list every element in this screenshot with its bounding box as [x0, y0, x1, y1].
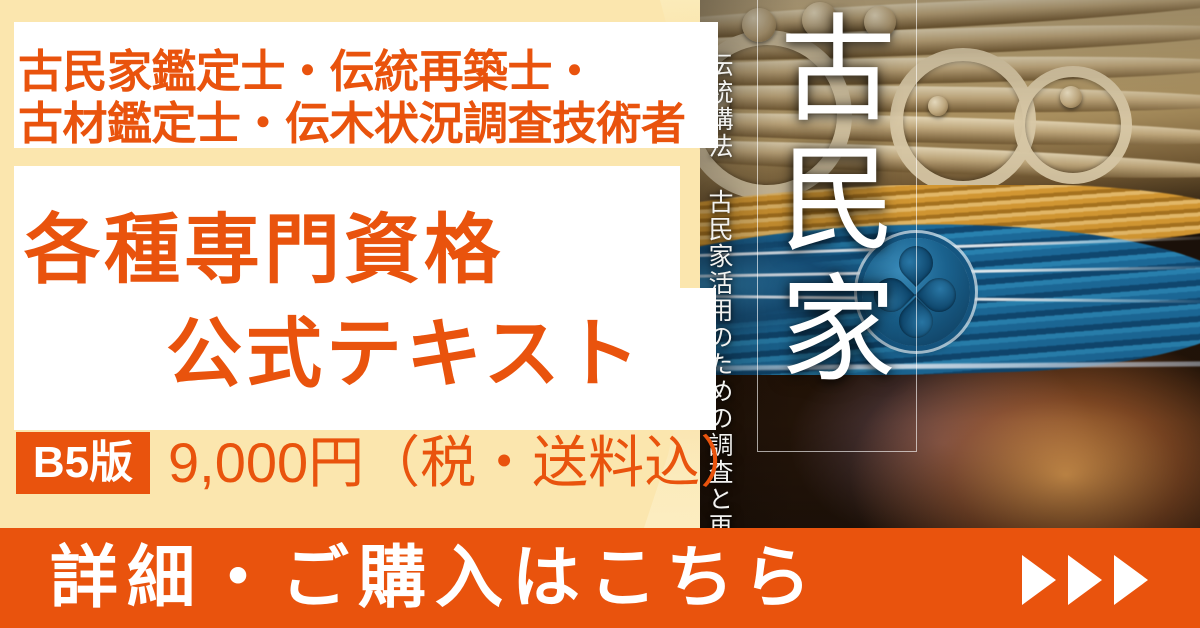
book-title-char-2: 民 [775, 138, 901, 268]
triangle-right-icon [1114, 555, 1148, 605]
triangle-right-icon [1022, 555, 1056, 605]
cta-bar[interactable]: 詳細・ご購入はこちら [0, 528, 1200, 628]
promo-banner: 古 民 家 伝統構法 古民家活用のための調査と再生の 古民家鑑定士・伝統再築士・… [0, 0, 1200, 628]
headline-line-1: 各種専門資格 [24, 188, 504, 298]
price-text: 9,000円（税・送料込） [168, 432, 756, 494]
certification-line-2: 古材鑑定士・伝木状況調査技術者 [18, 87, 686, 152]
headline-line-2: 公式テキスト [166, 292, 644, 402]
book-title: 古 民 家 [775, 8, 901, 398]
format-badge: B5版 [16, 432, 150, 494]
cta-label: 詳細・ご購入はこちら [50, 542, 820, 614]
book-title-char-3: 家 [775, 268, 901, 398]
cta-arrows [1022, 555, 1148, 605]
book-title-char-1: 古 [775, 8, 901, 138]
triangle-right-icon [1068, 555, 1102, 605]
